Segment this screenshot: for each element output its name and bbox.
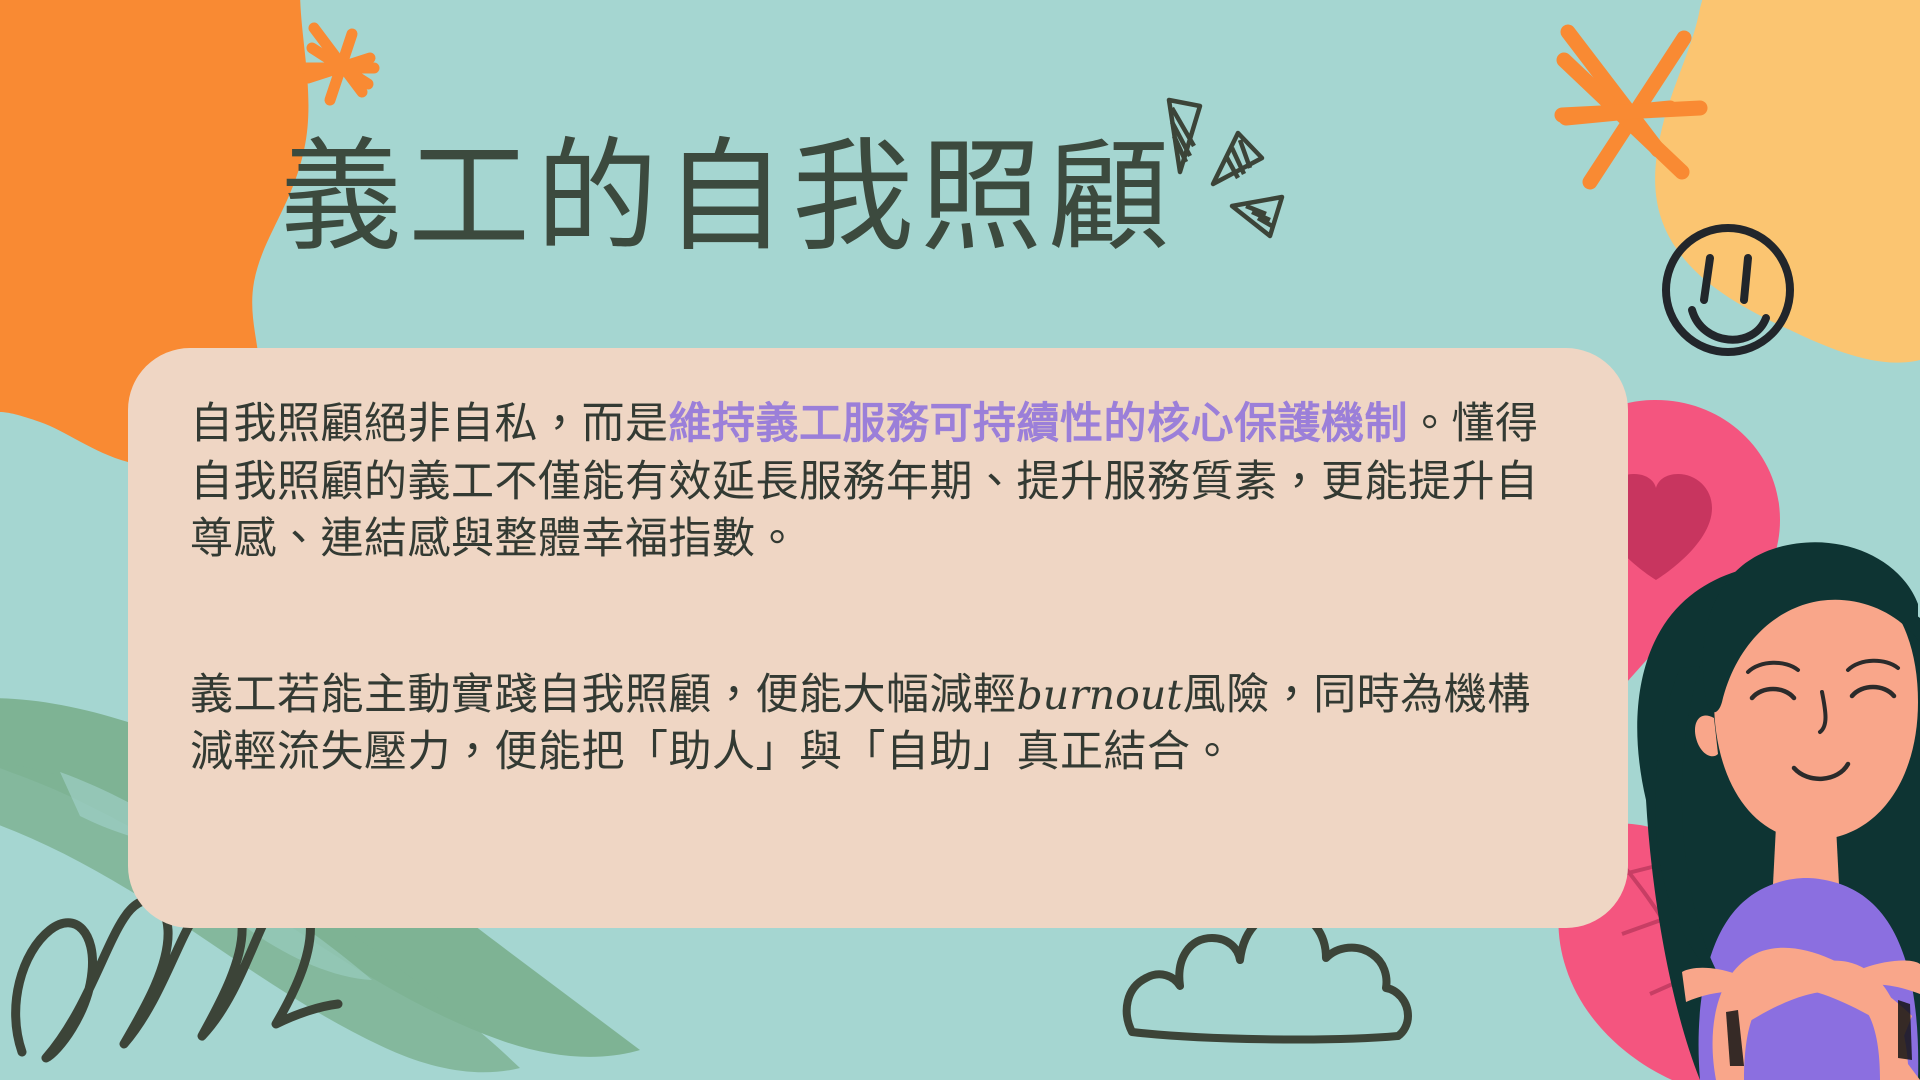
sleeve-shadow bbox=[1726, 1000, 1912, 1066]
neck bbox=[1772, 826, 1840, 904]
page-title: 義工的自我照顧 bbox=[280, 132, 1176, 264]
smiley-face-icon bbox=[1666, 228, 1790, 352]
eyes-closed bbox=[1752, 687, 1894, 698]
face bbox=[1714, 568, 1918, 840]
mouth bbox=[1794, 764, 1848, 779]
shirt bbox=[1699, 878, 1919, 1080]
paragraph-2: 義工若能主動實踐自我照顧，便能大幅減輕burnout風險，同時為機構減輕流失壓力… bbox=[190, 667, 1566, 782]
eyebrows bbox=[1748, 661, 1898, 672]
paragraph-2-term-burnout: burnout bbox=[1017, 671, 1183, 719]
cloud-outline-doodle bbox=[1127, 912, 1408, 1040]
hair-side-strand bbox=[1655, 666, 1724, 984]
spark-triangle-doodles bbox=[1169, 100, 1282, 236]
nose bbox=[1820, 692, 1826, 732]
arm-left bbox=[1713, 948, 1912, 1080]
ear bbox=[1695, 715, 1718, 756]
orange-asterisk-icon-left bbox=[304, 28, 374, 100]
paragraph-1-lead: 自我照顧絕非自私，而是 bbox=[190, 400, 669, 448]
hair-back bbox=[1637, 563, 1920, 1080]
paragraph-1: 自我照顧絕非自私，而是維持義工服務可持續性的核心保護機制。懂得自我照顧的義工不僅… bbox=[190, 396, 1566, 569]
paragraph-2-lead: 義工若能主動實踐自我照顧，便能大幅減輕 bbox=[190, 671, 1017, 719]
slide-canvas: 義工的自我照顧 自我照顧絕非自私，而是維持義工服務可持續性的核心保護機制。懂得自… bbox=[0, 0, 1920, 1080]
orange-asterisk-icon-right bbox=[1562, 32, 1700, 182]
hair-front bbox=[1703, 542, 1918, 712]
paragraph-1-highlight: 維持義工服務可持續性的核心保護機制 bbox=[669, 400, 1409, 448]
hands bbox=[1682, 961, 1920, 1002]
arm-right bbox=[1726, 961, 1920, 1080]
yellow-blob-shape bbox=[1655, 0, 1920, 363]
body-text-card: 自我照顧絕非自私，而是維持義工服務可持續性的核心保護機制。懂得自我照顧的義工不僅… bbox=[128, 348, 1628, 928]
